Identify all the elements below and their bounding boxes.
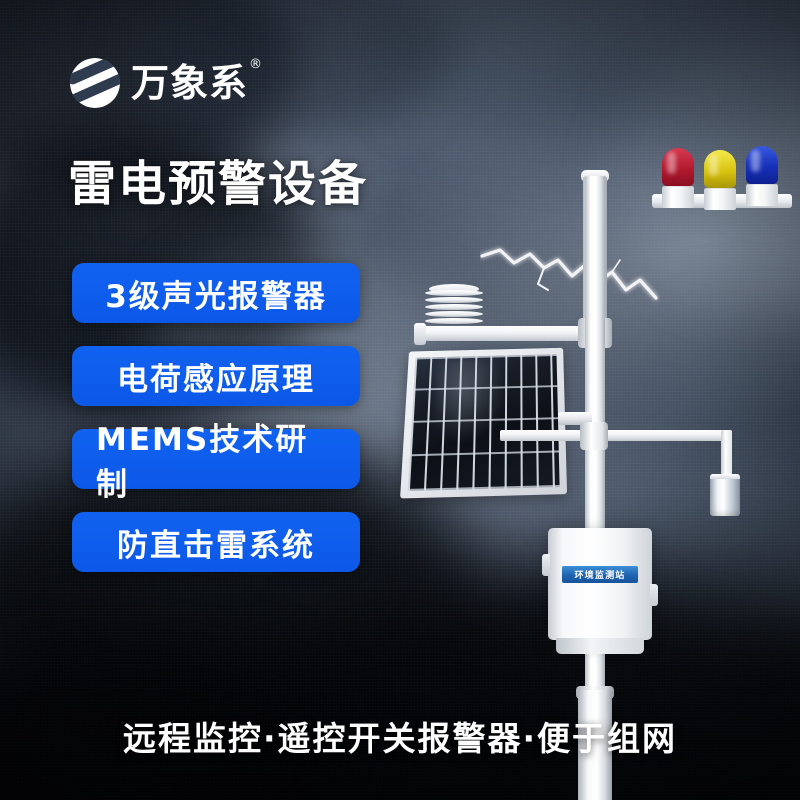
alarm-lamp-yellow	[704, 150, 736, 210]
alarm-lamp-red	[662, 148, 694, 208]
alarm-lamp-blue	[746, 146, 778, 206]
solar-panel	[400, 348, 567, 499]
lightning-warning-device: 环境监测站	[380, 130, 800, 800]
sensor-dropper-arm	[721, 430, 732, 478]
feature-badge-list: 3级声光报警器 电荷感应原理 MEMS技术研制 防直击雷系统	[72, 263, 360, 572]
feature-badge-1[interactable]: 3级声光报警器	[72, 263, 360, 323]
box-bracket-left	[542, 554, 550, 576]
controller-box-base	[556, 638, 644, 654]
brand-logo: 万象系®	[70, 58, 262, 108]
footer-tagline: 远程监控·遥控开关报警器·便于组网	[0, 712, 800, 760]
radiation-shield-icon	[425, 288, 483, 328]
mid-joint	[580, 422, 608, 450]
cylinder-sensor-icon	[710, 474, 740, 516]
swirl-sphere-icon	[70, 58, 120, 108]
trademark-symbol: ®	[249, 57, 263, 72]
box-bracket-right	[650, 584, 658, 606]
feature-badge-4[interactable]: 防直击雷系统	[72, 512, 360, 572]
mid-crossarm-right	[602, 430, 732, 441]
box-label: 环境监测站	[562, 566, 638, 583]
page-title: 雷电预警设备	[68, 158, 368, 211]
feature-badge-3[interactable]: MEMS技术研制	[72, 429, 360, 489]
feature-badge-2[interactable]: 电荷感应原理	[72, 346, 360, 406]
poster-canvas: 环境监测站 万象系® 雷电预警设备 3级声光报警器 电荷感应原理 MEMS技术研…	[0, 0, 800, 800]
controller-box: 环境监测站	[548, 528, 652, 640]
mid-crossarm-left	[500, 430, 592, 441]
brand-name-text: 万象系	[131, 61, 248, 105]
brand-name: 万象系®	[131, 64, 262, 102]
